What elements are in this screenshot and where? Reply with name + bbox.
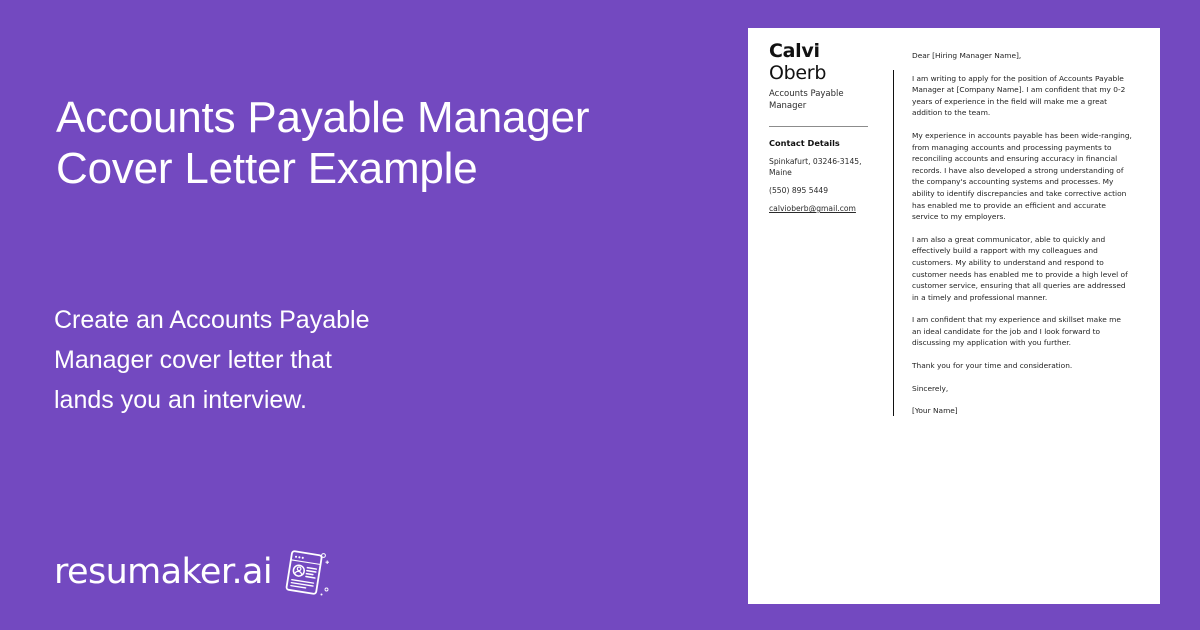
promo-subtitle: Create an Accounts Payable Manager cover… [54,300,534,420]
resume-document-icon [278,547,330,599]
applicant-first-name: Calvi [769,40,874,62]
letter-body: Dear [Hiring Manager Name], I am writing… [912,50,1132,417]
letter-paragraph-communication: I am also a great communicator, able to … [912,234,1132,304]
contact-details-heading: Contact Details [769,138,874,149]
letter-paragraph-experience: My experience in accounts payable has be… [912,130,1132,223]
letter-sidebar: Calvi Oberb Accounts Payable Manager Con… [769,40,874,214]
letter-signoff: Sincerely, [912,383,1132,395]
cover-letter-preview[interactable]: Calvi Oberb Accounts Payable Manager Con… [748,28,1160,604]
applicant-job-title: Accounts Payable Manager [769,89,874,112]
contact-address: Spinkafurt, 03246-3145, Maine [769,156,874,178]
sidebar-divider [769,126,868,127]
applicant-last-name: Oberb [769,62,874,84]
contact-email-link[interactable]: calvioberb@gmail.com [769,203,874,214]
promo-panel: Accounts Payable Manager Cover Letter Ex… [0,0,740,630]
letter-vertical-divider [893,70,894,416]
brand-logo[interactable]: resumaker.ai [54,545,330,599]
contact-phone: (550) 895 5449 [769,185,874,196]
promo-banner: Accounts Payable Manager Cover Letter Ex… [0,0,1200,630]
letter-thanks: Thank you for your time and consideratio… [912,360,1132,372]
letter-paragraph-intro: I am writing to apply for the position o… [912,73,1132,119]
page-title: Accounts Payable Manager Cover Letter Ex… [56,92,696,194]
letter-salutation: Dear [Hiring Manager Name], [912,50,1132,62]
brand-wordmark: resumaker.ai [54,553,272,591]
letter-signature-name: [Your Name] [912,405,1132,417]
letter-paragraph-closing: I am confident that my experience and sk… [912,314,1132,349]
